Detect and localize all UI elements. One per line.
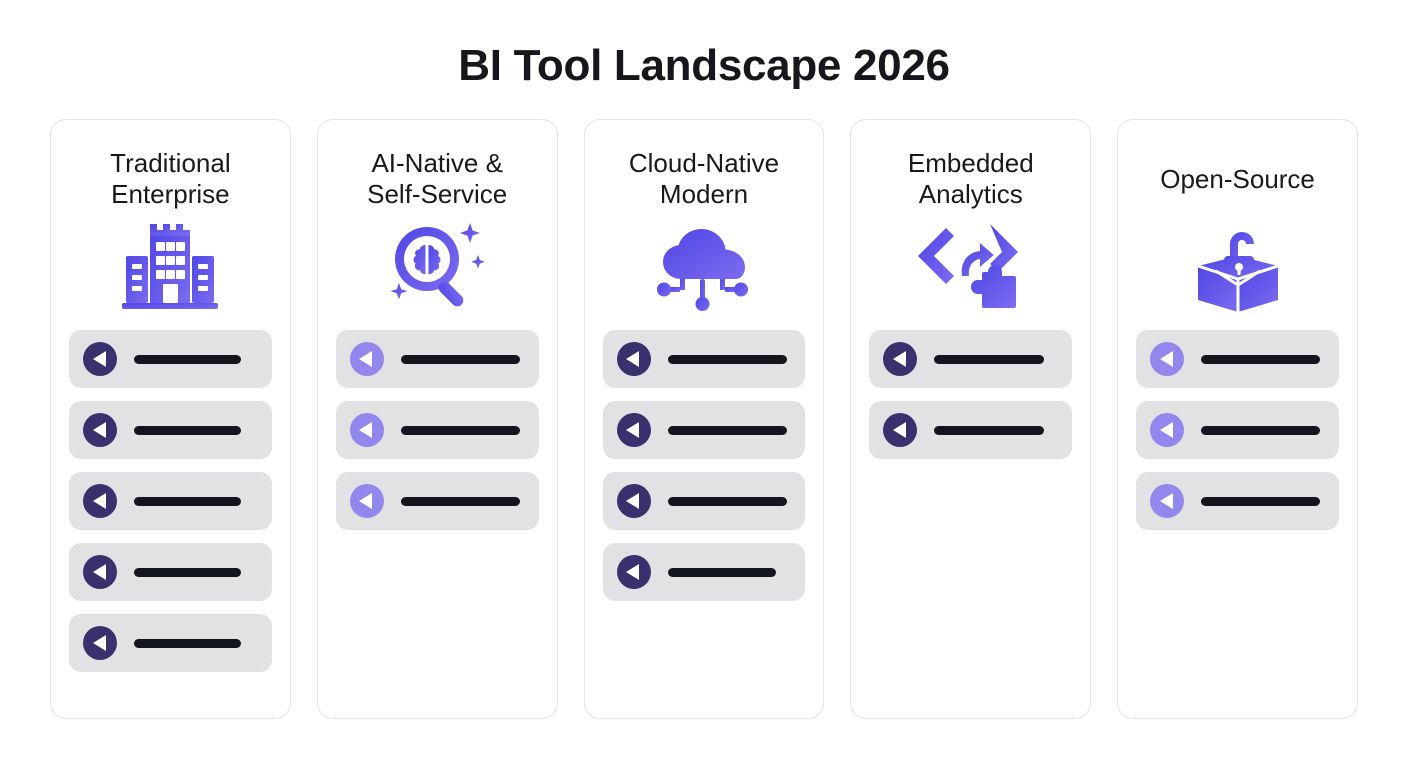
list-item[interactable]	[869, 330, 1072, 388]
list-item[interactable]	[69, 543, 272, 601]
list-item[interactable]	[603, 472, 806, 530]
list-item[interactable]	[69, 401, 272, 459]
redacted-text-bar	[1201, 426, 1320, 435]
category-header-embedded-analytics: Embedded Analytics	[869, 148, 1072, 210]
triangle-left-glyph	[359, 351, 372, 367]
play-left-triangle-icon	[350, 342, 384, 376]
play-left-triangle-icon	[350, 484, 384, 518]
list-item[interactable]	[69, 472, 272, 530]
triangle-left-glyph	[1160, 493, 1173, 509]
triangle-left-glyph	[1160, 422, 1173, 438]
redacted-text-bar	[401, 497, 520, 506]
redacted-text-bar	[668, 497, 787, 506]
play-left-triangle-icon	[83, 626, 117, 660]
play-left-triangle-icon	[83, 413, 117, 447]
category-card-ai-native-self-service[interactable]: AI-Native & Self-Service	[317, 119, 558, 719]
triangle-left-glyph	[359, 422, 372, 438]
play-left-triangle-icon	[883, 342, 917, 376]
list-item[interactable]	[69, 330, 272, 388]
list-item[interactable]	[1136, 401, 1339, 459]
item-list-embedded-analytics	[869, 330, 1072, 459]
triangle-left-glyph	[1160, 351, 1173, 367]
list-item[interactable]	[1136, 330, 1339, 388]
play-left-triangle-icon	[1150, 484, 1184, 518]
triangle-left-glyph	[893, 351, 906, 367]
list-item[interactable]	[1136, 472, 1339, 530]
list-item[interactable]	[603, 543, 806, 601]
category-header-ai-native-self-service: AI-Native & Self-Service	[336, 148, 539, 210]
triangle-left-glyph	[93, 564, 106, 580]
play-left-triangle-icon	[350, 413, 384, 447]
triangle-left-glyph	[93, 351, 106, 367]
play-left-triangle-icon	[617, 413, 651, 447]
triangle-left-glyph	[893, 422, 906, 438]
item-list-traditional-enterprise	[69, 330, 272, 672]
columns-board: Traditional Enterprise	[50, 119, 1358, 719]
redacted-text-bar	[134, 497, 241, 506]
redacted-text-bar	[1201, 355, 1320, 364]
list-item[interactable]	[603, 401, 806, 459]
list-item[interactable]	[336, 472, 539, 530]
list-item[interactable]	[69, 614, 272, 672]
play-left-triangle-icon	[1150, 413, 1184, 447]
redacted-text-bar	[1201, 497, 1320, 506]
triangle-left-glyph	[626, 351, 639, 367]
list-item[interactable]	[336, 330, 539, 388]
play-left-triangle-icon	[617, 342, 651, 376]
redacted-text-bar	[401, 355, 520, 364]
redacted-text-bar	[134, 639, 241, 648]
redacted-text-bar	[668, 426, 787, 435]
open-box-unlocked-padlock-icon	[1186, 218, 1290, 314]
category-card-open-source[interactable]: Open-Source	[1117, 119, 1358, 719]
cloud-network-icon	[653, 218, 755, 314]
list-item[interactable]	[336, 401, 539, 459]
triangle-left-glyph	[626, 564, 639, 580]
triangle-left-glyph	[93, 493, 106, 509]
brain-magnifier-sparkles-icon	[385, 219, 489, 313]
infographic-root: BI Tool Landscape 2026 Traditional Enter…	[0, 0, 1408, 768]
item-list-ai-native-self-service	[336, 330, 539, 530]
redacted-text-bar	[134, 426, 241, 435]
play-left-triangle-icon	[83, 342, 117, 376]
item-list-cloud-native-modern	[603, 330, 806, 601]
play-left-triangle-icon	[617, 484, 651, 518]
triangle-left-glyph	[626, 493, 639, 509]
category-header-cloud-native-modern: Cloud-Native Modern	[603, 148, 806, 210]
code-brackets-arrow-puzzle-icon	[918, 222, 1024, 310]
triangle-left-glyph	[359, 493, 372, 509]
list-item[interactable]	[869, 401, 1072, 459]
office-buildings-icon	[120, 220, 220, 312]
triangle-left-glyph	[93, 635, 106, 651]
redacted-text-bar	[401, 426, 520, 435]
redacted-text-bar	[134, 355, 241, 364]
category-header-open-source: Open-Source	[1136, 148, 1339, 210]
open-box-unlocked-padlock-icon	[1186, 218, 1290, 314]
redacted-text-bar	[668, 355, 787, 364]
play-left-triangle-icon	[883, 413, 917, 447]
triangle-left-glyph	[626, 422, 639, 438]
category-card-embedded-analytics[interactable]: Embedded Analytics	[850, 119, 1091, 719]
play-left-triangle-icon	[83, 484, 117, 518]
cloud-network-icon	[653, 221, 755, 311]
category-card-cloud-native-modern[interactable]: Cloud-Native Modern	[584, 119, 825, 719]
office-buildings-icon	[120, 218, 220, 314]
redacted-text-bar	[934, 355, 1044, 364]
play-left-triangle-icon	[617, 555, 651, 589]
list-item[interactable]	[603, 330, 806, 388]
play-left-triangle-icon	[83, 555, 117, 589]
brain-magnifier-sparkles-icon	[385, 218, 489, 314]
triangle-left-glyph	[93, 422, 106, 438]
redacted-text-bar	[934, 426, 1044, 435]
category-card-traditional-enterprise[interactable]: Traditional Enterprise	[50, 119, 291, 719]
page-title: BI Tool Landscape 2026	[0, 38, 1408, 94]
code-brackets-arrow-puzzle-icon	[918, 218, 1024, 314]
redacted-text-bar	[668, 568, 776, 577]
category-header-traditional-enterprise: Traditional Enterprise	[69, 148, 272, 210]
redacted-text-bar	[134, 568, 241, 577]
play-left-triangle-icon	[1150, 342, 1184, 376]
item-list-open-source	[1136, 330, 1339, 530]
